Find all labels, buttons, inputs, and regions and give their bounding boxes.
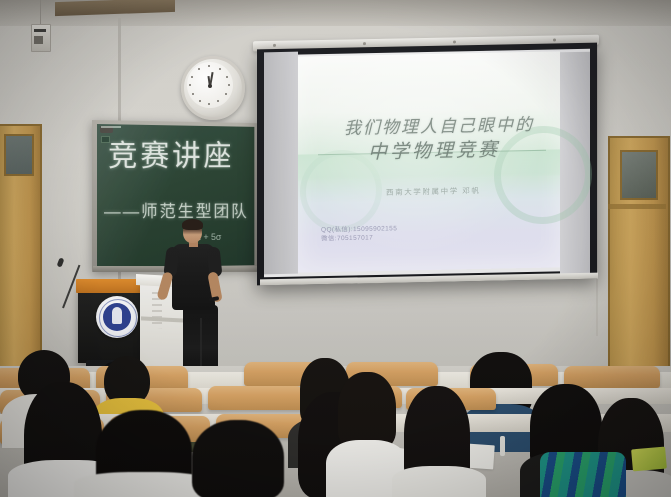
wall-speaker-box-slot <box>34 29 46 32</box>
right-door-window <box>620 150 658 200</box>
lecture-hall-photo: 竞赛讲座 ——师范生型团队 1 + 5σ 我们物理人自己眼中的 中学物理竞赛 西… <box>0 0 671 497</box>
screen-left-margin <box>264 52 298 275</box>
clock-center-pin <box>208 84 212 88</box>
student-row3-hair <box>338 372 396 448</box>
blackboard-title: 竞赛讲座 <box>108 142 251 172</box>
left-door-window <box>4 134 34 176</box>
water-bottle[interactable] <box>500 436 505 456</box>
slide-title-line-2: 中学物理竞赛 <box>368 135 500 165</box>
presenter-hair <box>182 219 203 230</box>
student-stripe-shirt-body <box>540 452 626 497</box>
student-front-right-hair <box>192 420 284 497</box>
slide-contact-line-2: 微信:705157017 <box>321 231 373 242</box>
wall-speaker-box-grille <box>34 36 43 44</box>
blackboard-subtitle: ——师范生型团队 <box>104 203 260 220</box>
wall-box-cord <box>40 0 41 25</box>
student-right-white-body <box>392 466 486 497</box>
bench-r1-f[interactable] <box>564 366 660 388</box>
notebook[interactable] <box>631 447 667 472</box>
slide-title-line-1: 我们物理人自己眼中的 <box>344 110 534 139</box>
right-door-rail <box>608 204 666 209</box>
bench-r2-c[interactable] <box>208 386 304 410</box>
slide-presenter-line: 西南大学附属中学 邓帆 <box>386 185 480 198</box>
blackboard-chalk-dash <box>101 126 121 128</box>
university-emblem-glyph <box>112 307 122 324</box>
